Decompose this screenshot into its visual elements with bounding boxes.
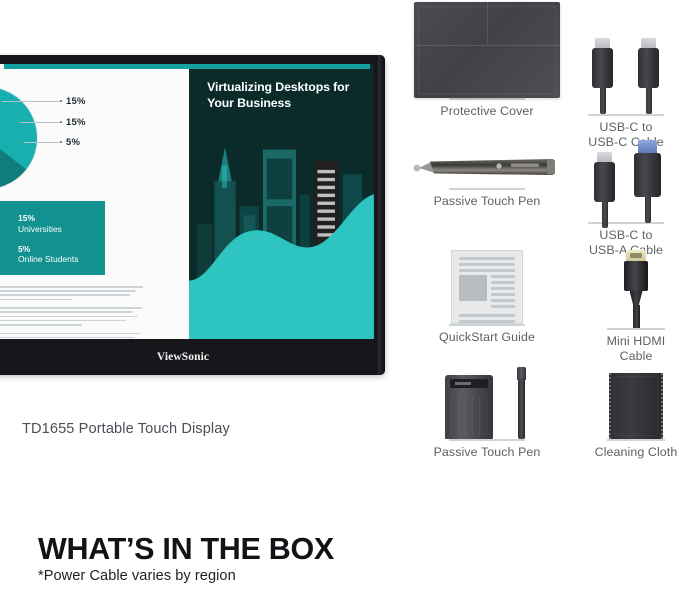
usb-a-cable-icon: [586, 140, 666, 222]
stat-label-universities: Universities: [18, 224, 105, 235]
stat-label-online-students: Online Students: [18, 254, 105, 265]
shelf-line: [449, 324, 525, 326]
footer-note: *Power Cable varies by region: [38, 568, 334, 584]
accessory-passive-touch-pen: Passive Touch Pen: [410, 148, 564, 209]
pie-label-1: 15%: [66, 96, 86, 107]
accessory-usb-c-to-usb-a-cable: USB-C to USB-A Cable: [574, 140, 678, 258]
shelf-line: [607, 328, 665, 330]
monitor-chin: ViewSonic: [0, 339, 374, 375]
accessories-grid: Protective Cover USB-C to USB-C Cable: [402, 0, 679, 470]
slide-body-text-block: [0, 286, 150, 339]
teal-wave-shape: [189, 185, 374, 339]
shelf-line: [449, 188, 525, 190]
document-icon: [426, 250, 548, 324]
stat-value-universities: 15%: [18, 213, 105, 224]
leader-line-2: [20, 122, 60, 123]
accessory-mini-hdmi-cable: Mini HDMI Cable: [592, 250, 679, 364]
cover-icon: [412, 2, 562, 98]
shelf-line: [449, 439, 525, 441]
stat-value-online-students: 5%: [18, 244, 105, 255]
slide-left-panel: 15% 15% 5% 15% Universities 5% Online St…: [0, 64, 189, 339]
leader-dot-3: [60, 141, 62, 143]
accessory-usb-c-to-usb-c-cable: USB-C to USB-C Cable: [574, 38, 678, 150]
monitor-right-edge: [378, 55, 385, 375]
accessory-power-adapter: Passive Touch Pen: [426, 367, 548, 460]
leader-line-3: [24, 142, 60, 143]
viewsonic-logo: ViewSonic: [157, 351, 209, 363]
accessory-protective-cover: Protective Cover: [412, 2, 562, 119]
pie-label-3: 5%: [66, 137, 80, 148]
slide-title: Virtualizing Desktops for Your Business: [207, 80, 364, 111]
power-adapter-icon: [437, 367, 537, 439]
accessory-label: Mini HDMI Cable: [592, 334, 679, 364]
accessory-label: Passive Touch Pen: [410, 194, 564, 209]
shelf-line: [607, 439, 665, 441]
hdmi-cable-icon: [613, 250, 659, 328]
accessory-label: Protective Cover: [412, 104, 562, 119]
accessory-label: QuickStart Guide: [426, 330, 548, 345]
usb-c-cable-icon: [586, 38, 666, 114]
slide-accent-bar: [4, 64, 370, 69]
pie-label-2: 15%: [66, 117, 86, 128]
page-title: WHAT’S IN THE BOX: [38, 533, 334, 565]
shelf-line: [449, 98, 525, 100]
slide-right-panel: Virtualizing Desktops for Your Business: [189, 64, 374, 339]
monitor-screen: 15% 15% 5% 15% Universities 5% Online St…: [0, 64, 374, 339]
leader-dot-2: [60, 121, 62, 123]
accessory-label: Passive Touch Pen: [426, 445, 548, 460]
whats-in-the-box-page: 15% 15% 5% 15% Universities 5% Online St…: [0, 0, 679, 591]
accessory-quickstart-guide: QuickStart Guide: [426, 250, 548, 345]
cloth-icon: [592, 367, 679, 439]
shelf-line: [588, 114, 664, 116]
product-caption: TD1655 Portable Touch Display: [22, 421, 230, 437]
monitor-product-image: 15% 15% 5% 15% Universities 5% Online St…: [0, 55, 385, 375]
stylus-pen-icon: [410, 148, 564, 188]
accessory-cleaning-cloth: Cleaning Cloth: [592, 367, 679, 460]
accessory-label: Cleaning Cloth: [592, 445, 679, 460]
stat-callout-box: 15% Universities 5% Online Students: [0, 201, 105, 275]
leader-line-1: [2, 101, 60, 102]
leader-dot-1: [60, 100, 62, 102]
footer-block: WHAT’S IN THE BOX *Power Cable varies by…: [38, 533, 334, 584]
